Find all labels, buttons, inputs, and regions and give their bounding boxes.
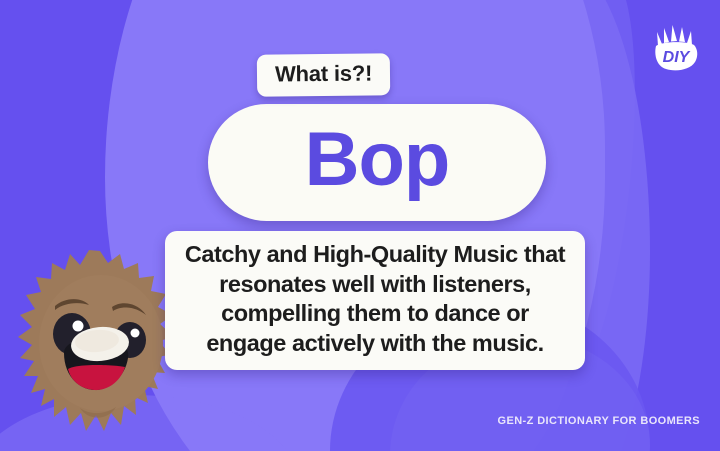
mascot-eye-highlight-left (73, 321, 84, 332)
mascot-eye-highlight-right (131, 329, 140, 338)
diy-logo[interactable]: DIY (650, 24, 702, 72)
definition-text: Catchy and High-Quality Music that reson… (177, 240, 573, 358)
footer-caption: GEN-Z DICTIONARY FOR BOOMERS (498, 415, 700, 427)
logo-text: DIY (663, 49, 691, 66)
social-card-canvas: DIY What is?! (0, 0, 720, 451)
definition-card: Catchy and High-Quality Music that reson… (165, 231, 585, 370)
term-text: Bop (305, 122, 450, 204)
term-pill: Bop (208, 104, 546, 221)
prompt-label: What is?! (257, 53, 391, 96)
